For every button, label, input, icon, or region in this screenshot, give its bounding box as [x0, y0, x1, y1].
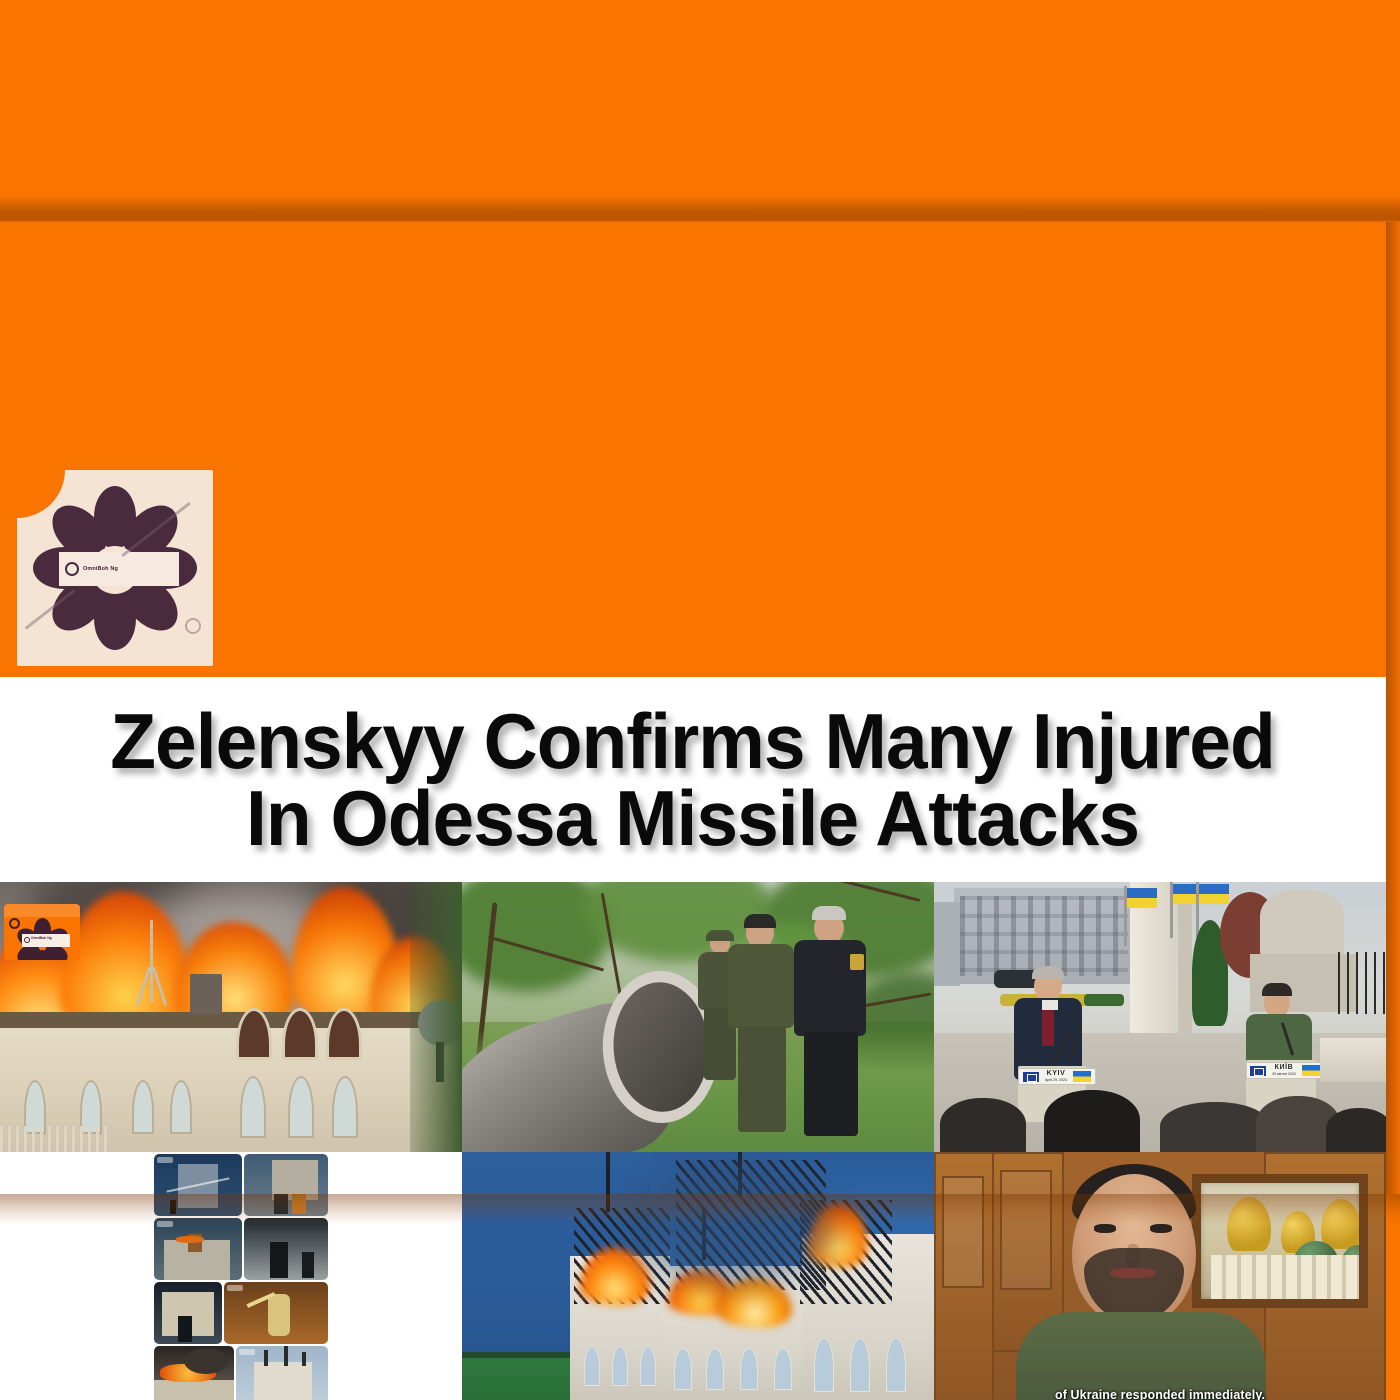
social-collage-screenshot: 5K 1:25 PM	[152, 1152, 330, 1400]
podium-sign-cyrillic: КИЇВ 29 квітня 2024	[1246, 1062, 1324, 1079]
logo-brand-text: OmniBoh Ng	[83, 566, 118, 573]
collage-tile	[154, 1218, 242, 1280]
audience-silhouette	[1326, 1108, 1386, 1152]
podium-sign-sub: 29 квітня 2024	[1272, 1071, 1296, 1078]
podium-sign-text: KYIV	[1047, 1070, 1066, 1077]
nato-flag-icon	[1250, 1066, 1266, 1076]
page-background: OmniBoh Ng Zelenskyy Confirms Many Injur…	[0, 0, 1400, 1400]
castle-fire-photo	[462, 1152, 934, 1400]
card-right-edge-shadow	[1386, 222, 1400, 1194]
audience-silhouette	[1044, 1090, 1140, 1152]
card-bottom-shadow	[0, 1194, 1400, 1224]
missile-debris-photo	[462, 882, 934, 1152]
gallery-image-social-collage[interactable]: 5K 1:25 PM	[152, 1152, 330, 1400]
headline-panel: Zelenskyy Confirms Many Injured In Odess…	[0, 677, 1386, 882]
collage-tile	[224, 1282, 328, 1344]
fire-building-photo: OmniBoh Ng	[0, 882, 462, 1152]
collage-tile: 5K 1:25 PM	[236, 1346, 328, 1400]
gallery-image-missile-debris[interactable]	[462, 882, 934, 1152]
ukraine-flag-icon	[1073, 1071, 1091, 1082]
watermark-brand-text: OmniBoh Ng	[22, 934, 70, 947]
podium-sign-sub: April 29, 2024	[1045, 1077, 1067, 1084]
site-logo[interactable]: OmniBoh Ng	[17, 470, 213, 666]
watermark-ring-icon	[9, 918, 20, 929]
image-grid: OmniBoh Ng	[0, 882, 1386, 1400]
podium-sign-text: КИЇВ	[1275, 1064, 1294, 1071]
page-title: Zelenskyy Confirms Many Injured In Odess…	[93, 703, 1292, 856]
ukraine-flag-icon	[1302, 1065, 1320, 1076]
collage-tile	[154, 1346, 234, 1400]
article-card: OmniBoh Ng Zelenskyy Confirms Many Injur…	[0, 222, 1386, 1194]
collage-tile	[244, 1218, 328, 1280]
logo-wordmark: OmniBoh Ng	[59, 552, 179, 586]
watermark-logo: OmniBoh Ng	[4, 904, 80, 960]
audience-silhouette	[1160, 1102, 1270, 1152]
logo-ring-icon	[65, 562, 79, 576]
logo-dot-icon	[185, 618, 201, 634]
nato-flag-icon	[1023, 1072, 1039, 1082]
zelenskyy-video-frame: of Ukraine responded immediately.	[934, 1152, 1386, 1400]
gallery-image-fire-building[interactable]: OmniBoh Ng	[0, 882, 462, 1152]
headline-line-1: Zelenskyy Confirms Many Injured	[111, 697, 1275, 785]
gallery-image-zelenskyy-video[interactable]: of Ukraine responded immediately.	[934, 1152, 1386, 1400]
press-conference-photo: KYIV April 29, 2024	[934, 882, 1386, 1152]
headline-line-2: In Odessa Missile Attacks	[246, 774, 1139, 862]
card-top-shadow	[0, 196, 1400, 222]
audience-silhouette	[940, 1098, 1026, 1152]
collage-tile	[154, 1282, 222, 1344]
subject-torso	[1016, 1312, 1266, 1400]
podium-sign-latin: KYIV April 29, 2024	[1018, 1068, 1096, 1085]
video-subtitle: of Ukraine responded immediately.	[934, 1388, 1386, 1400]
gallery-image-press-conference[interactable]: KYIV April 29, 2024	[934, 882, 1386, 1152]
gallery-image-castle-fire[interactable]	[462, 1152, 934, 1400]
